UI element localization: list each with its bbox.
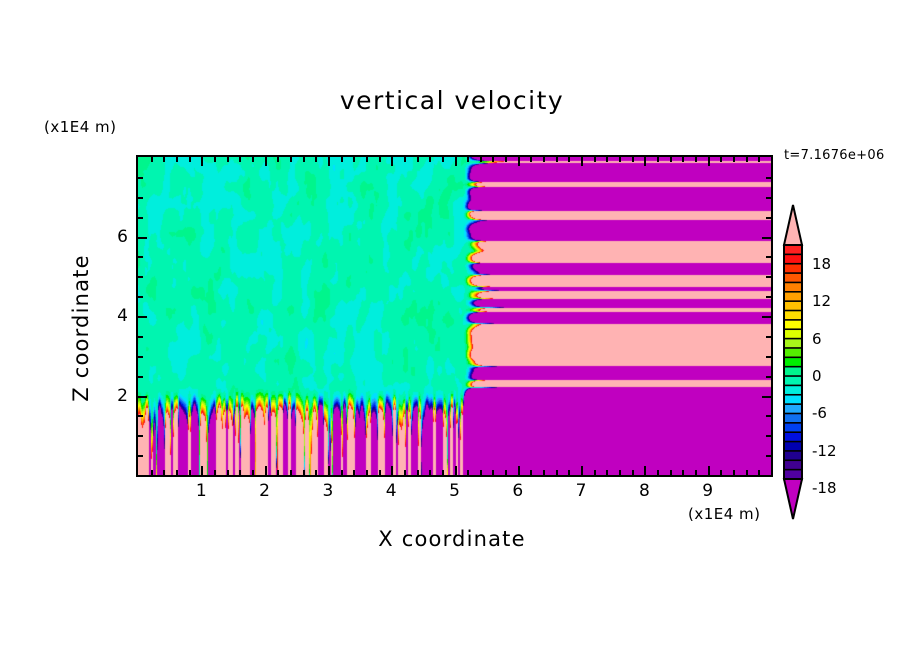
tick: [442, 157, 444, 162]
tick: [138, 316, 147, 318]
colorbar-band: [784, 292, 802, 302]
tick: [657, 157, 659, 162]
tick: [417, 470, 419, 475]
colorbar-label: 18: [812, 255, 831, 273]
tick: [151, 470, 153, 475]
tick: [277, 157, 279, 162]
tick: [404, 470, 406, 475]
colorbar-band: [784, 385, 802, 395]
tick: [543, 470, 545, 475]
tick: [670, 157, 672, 162]
tick: [644, 157, 646, 166]
tick: [138, 415, 143, 417]
tick: [606, 157, 608, 162]
y-tick-label: 6: [112, 227, 128, 247]
tick: [682, 470, 684, 475]
page-title: vertical velocity: [0, 86, 904, 115]
tick: [530, 470, 532, 475]
x-tick-label: 8: [639, 481, 650, 501]
tick: [252, 470, 254, 475]
colorbar-band: [784, 432, 802, 442]
tick: [366, 470, 368, 475]
colorbar-over-arrow: [784, 205, 802, 245]
colorbar-band: [784, 282, 802, 292]
tick: [766, 276, 771, 278]
tick: [163, 157, 165, 162]
tick: [708, 157, 710, 166]
tick: [518, 157, 520, 166]
tick: [138, 376, 143, 378]
colorbar-band: [784, 423, 802, 433]
tick: [766, 415, 771, 417]
tick: [138, 336, 143, 338]
colorbar-band: [784, 413, 802, 423]
tick: [766, 217, 771, 219]
tick: [265, 466, 267, 475]
tick: [708, 466, 710, 475]
y-tick-label: 4: [112, 306, 128, 326]
tick: [505, 470, 507, 475]
tick: [619, 470, 621, 475]
tick: [746, 470, 748, 475]
x-axis-title: X coordinate: [0, 527, 904, 551]
tick: [766, 336, 771, 338]
tick: [176, 470, 178, 475]
tick: [455, 466, 457, 475]
tick: [568, 157, 570, 162]
tick: [766, 376, 771, 378]
colorbar-under-arrow: [784, 479, 802, 519]
y-axis-unit-label: (x1E4 m): [44, 118, 117, 136]
tick: [328, 466, 330, 475]
colorbar-band: [784, 273, 802, 283]
tick: [766, 177, 771, 179]
tick: [138, 396, 147, 398]
tick: [682, 157, 684, 162]
colorbar-band: [784, 404, 802, 414]
tick: [746, 157, 748, 162]
tick: [189, 157, 191, 162]
tick: [303, 157, 305, 162]
tick: [429, 157, 431, 162]
contour-field: [138, 157, 771, 475]
tick: [632, 157, 634, 162]
tick: [766, 256, 771, 258]
x-tick-label: 2: [259, 481, 270, 501]
tick: [619, 157, 621, 162]
colorbar-band: [784, 339, 802, 349]
tick: [151, 157, 153, 162]
tick: [758, 470, 760, 475]
tick: [594, 157, 596, 162]
tick: [644, 466, 646, 475]
tick: [543, 157, 545, 162]
tick: [467, 470, 469, 475]
tick: [315, 470, 317, 475]
tick: [766, 455, 771, 457]
colorbar-band: [784, 264, 802, 274]
tick: [556, 470, 558, 475]
colorbar-label: 0: [812, 367, 822, 385]
colorbar-label: 12: [812, 292, 831, 310]
tick: [480, 157, 482, 162]
tick: [353, 470, 355, 475]
colorbar-band: [784, 311, 802, 321]
x-tick-label: 1: [196, 481, 207, 501]
tick: [556, 157, 558, 162]
tick: [480, 470, 482, 475]
tick: [277, 470, 279, 475]
colorbar-band: [784, 320, 802, 330]
tick: [442, 470, 444, 475]
tick: [138, 455, 143, 457]
x-tick-label: 6: [512, 481, 523, 501]
tick: [138, 217, 143, 219]
tick: [568, 470, 570, 475]
tick: [492, 157, 494, 162]
colorbar-band: [784, 451, 802, 461]
tick: [467, 157, 469, 162]
x-tick-label: 4: [386, 481, 397, 501]
tick: [239, 157, 241, 162]
tick: [492, 470, 494, 475]
tick: [227, 157, 229, 162]
time-annotation: t=7.1676e+06: [784, 148, 885, 163]
colorbar-band: [784, 348, 802, 358]
tick: [290, 470, 292, 475]
tick: [138, 296, 143, 298]
tick: [138, 197, 143, 199]
colorbar-label: -12: [812, 442, 837, 460]
colorbar-band: [784, 442, 802, 452]
tick: [670, 470, 672, 475]
tick: [138, 256, 143, 258]
colorbar-band: [784, 395, 802, 405]
tick: [138, 237, 147, 239]
x-tick-label: 9: [702, 481, 713, 501]
tick: [606, 470, 608, 475]
tick: [214, 157, 216, 162]
colorbar-label: -6: [812, 404, 827, 422]
tick: [733, 157, 735, 162]
x-tick-label: 7: [576, 481, 587, 501]
tick: [379, 157, 381, 162]
tick: [328, 157, 330, 166]
tick: [695, 470, 697, 475]
tick: [762, 396, 771, 398]
colorbar-band: [784, 329, 802, 339]
y-axis-title: Z coordinate: [69, 228, 93, 428]
tick: [138, 356, 143, 358]
y-tick-label: 2: [112, 386, 128, 406]
tick: [189, 470, 191, 475]
tick: [766, 435, 771, 437]
tick: [581, 157, 583, 166]
tick: [530, 157, 532, 162]
tick: [315, 157, 317, 162]
colorbar-label: 6: [812, 330, 822, 348]
colorbar-band: [784, 460, 802, 470]
tick: [720, 157, 722, 162]
tick: [391, 157, 393, 166]
tick: [353, 157, 355, 162]
tick: [138, 276, 143, 278]
tick: [695, 157, 697, 162]
x-axis-unit-label: (x1E4 m): [688, 505, 761, 523]
tick: [632, 470, 634, 475]
colorbar-band: [784, 376, 802, 386]
tick: [265, 157, 267, 166]
tick: [290, 157, 292, 162]
figure-canvas: vertical velocity (x1E4 m) (x1E4 m) t=7.…: [0, 0, 904, 654]
tick: [720, 470, 722, 475]
tick: [404, 157, 406, 162]
tick: [594, 470, 596, 475]
tick: [417, 157, 419, 162]
tick: [227, 470, 229, 475]
tick: [581, 466, 583, 475]
colorbar-band: [784, 245, 802, 255]
tick: [201, 157, 203, 166]
tick: [758, 157, 760, 162]
colorbar-swatches: [781, 203, 805, 521]
colorbar-band: [784, 367, 802, 377]
tick: [762, 316, 771, 318]
tick: [214, 470, 216, 475]
tick: [391, 466, 393, 475]
x-tick-label: 5: [449, 481, 460, 501]
colorbar-band: [784, 301, 802, 311]
tick: [733, 470, 735, 475]
x-tick-label: 3: [322, 481, 333, 501]
tick: [201, 466, 203, 475]
tick: [176, 157, 178, 162]
tick: [341, 470, 343, 475]
tick: [252, 157, 254, 162]
tick: [455, 157, 457, 166]
colorbar-label: -18: [812, 479, 837, 497]
tick: [766, 296, 771, 298]
tick: [505, 157, 507, 162]
tick: [766, 356, 771, 358]
tick: [657, 470, 659, 475]
tick: [518, 466, 520, 475]
tick: [766, 197, 771, 199]
tick: [366, 157, 368, 162]
tick: [138, 435, 143, 437]
tick: [429, 470, 431, 475]
colorbar-band: [784, 357, 802, 367]
tick: [303, 470, 305, 475]
tick: [239, 470, 241, 475]
colorbar-band: [784, 254, 802, 264]
tick: [379, 470, 381, 475]
tick: [762, 237, 771, 239]
tick: [138, 177, 143, 179]
tick: [341, 157, 343, 162]
tick: [163, 470, 165, 475]
colorbar: [781, 203, 805, 521]
plot-area: [136, 155, 773, 477]
